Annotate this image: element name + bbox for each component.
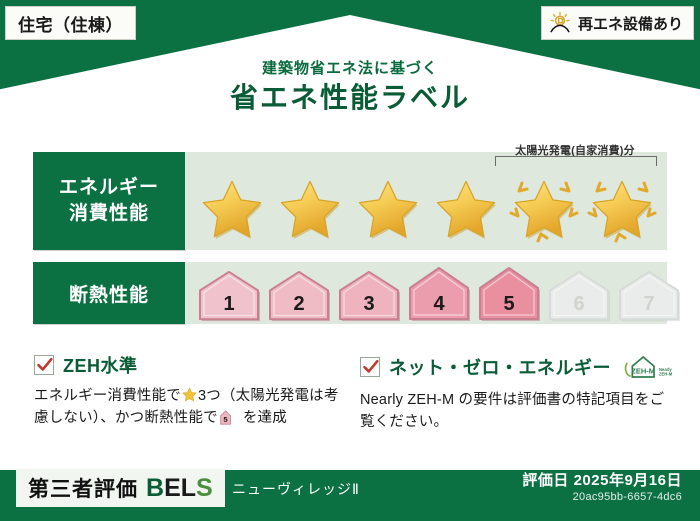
renewable-energy-tag-label: 再エネ設備あり [578, 13, 683, 34]
renewable-energy-tag: 再エネ設備あり [541, 6, 694, 40]
energy-label-line2: 消費性能 [69, 201, 149, 227]
insulation-grade-4: 4 [405, 268, 473, 324]
star-icon [353, 177, 423, 243]
insulation-grade-3: 3 [335, 268, 403, 324]
bels-certification-box: 第三者評価 BELS [16, 469, 225, 507]
insulation-grade-number: 4 [405, 293, 473, 316]
insulation-performance-row: 断熱性能 1234567 [33, 262, 667, 324]
star-icon [275, 177, 345, 243]
label-footer: 第三者評価 BELS ニューヴィレッジⅡ 評価日 2025年9月16日 20ac… [0, 459, 700, 521]
insulation-grade-number: 5 [475, 293, 543, 316]
star-3 [349, 169, 427, 245]
zeh-standard-body-post: を達成 [243, 410, 287, 426]
zeh-standard-body: エネルギー消費性能で3つ（太陽光発電は考慮しない）、かつ断熱性能で5を達成 [34, 385, 344, 430]
energy-performance-row: エネルギー 消費性能 太陽光発電(自家消費)分 [33, 152, 667, 250]
star-2 [271, 169, 349, 245]
star-4 [427, 169, 505, 245]
insulation-performance-row-label: 断熱性能 [33, 262, 185, 324]
star-icon [197, 177, 267, 243]
bels-wordmark: BELS [146, 474, 213, 503]
insulation-grade-number: 6 [545, 293, 613, 316]
check-icon [362, 358, 380, 376]
project-name: ニューヴィレッジⅡ [232, 479, 360, 499]
energy-star-rating [193, 168, 661, 246]
star-5 [505, 169, 583, 245]
solar-annotation-bracket [495, 156, 657, 166]
zeh-standard-checkbox [34, 355, 54, 375]
star-icon [509, 177, 579, 243]
net-zero-energy-header: ネット・ゼロ・エネルギー ZEH-M Nearly ZEH-M [360, 352, 665, 382]
building-type-tag: 住宅（住棟） [5, 6, 136, 40]
insulation-grade-number: 2 [265, 293, 333, 316]
bels-letter-b: B [146, 474, 164, 502]
zeh-standard-body-pre: エネルギー消費性能で [34, 388, 181, 404]
insulation-grade-2: 2 [265, 268, 333, 324]
insulation-grade-number: 7 [615, 293, 683, 316]
check-icon [36, 356, 54, 374]
insulation-grade-number: 1 [195, 293, 263, 316]
energy-label-line1: エネルギー [59, 175, 159, 201]
solar-sun-icon [548, 11, 572, 35]
solar-self-consumption-annotation: 太陽光発電(自家消費)分 [489, 142, 661, 158]
bels-letter-s: S [196, 474, 213, 502]
insulation-performance-row-body: 1234567 [185, 262, 667, 324]
zeh-m-logo-sub2: ZEH-M [659, 371, 673, 376]
zeh-m-logo-text: ZEH-M [631, 367, 655, 376]
insulation-grade-6: 6 [545, 268, 613, 324]
insulation-grade-number: 3 [335, 293, 403, 316]
inline-grade-badge-icon: 5 [220, 410, 241, 425]
net-zero-energy-body: Nearly ZEH-M の要件は評価書の特記項目をご覧ください。 [360, 389, 665, 434]
star-icon [587, 177, 657, 243]
net-zero-energy-checkbox [360, 357, 380, 377]
net-zero-energy-title: ネット・ゼロ・エネルギー [389, 354, 611, 380]
svg-text:5: 5 [223, 416, 228, 425]
bels-letter-el: EL [164, 474, 196, 502]
bels-jp-label: 第三者評価 [28, 473, 138, 503]
zeh-m-logo-icon: ZEH-M Nearly ZEH-M [624, 352, 674, 382]
zeh-standard-block: ZEH水準 エネルギー消費性能で3つ（太陽光発電は考慮しない）、かつ断熱性能で5… [34, 352, 344, 430]
star-1 [193, 169, 271, 245]
net-zero-energy-block: ネット・ゼロ・エネルギー ZEH-M Nearly ZEH-M Nearly Z… [360, 352, 665, 434]
insulation-label: 断熱性能 [69, 280, 149, 307]
certificate-id: 20ac95bb-6657-4dc6 [573, 491, 682, 503]
insulation-grade-scale: 1234567 [195, 264, 659, 324]
star-icon [431, 177, 501, 243]
insulation-grade-7: 7 [615, 268, 683, 324]
inline-star-icon [182, 387, 197, 402]
star-6 [583, 169, 661, 245]
zeh-standard-title: ZEH水準 [63, 352, 138, 378]
zeh-standard-header: ZEH水準 [34, 352, 344, 378]
energy-performance-label: 住宅（住棟） 再エネ設備あり 建築物省エネ法に基づく 省エネ性能ラベル エネルギ… [0, 0, 700, 521]
insulation-grade-1: 1 [195, 268, 263, 324]
insulation-grade-5: 5 [475, 268, 543, 324]
building-type-tag-label: 住宅（住棟） [18, 11, 123, 36]
energy-performance-row-label: エネルギー 消費性能 [33, 152, 185, 250]
energy-performance-row-body: 太陽光発電(自家消費)分 [185, 152, 667, 250]
evaluation-date: 評価日 2025年9月16日 [522, 469, 682, 490]
